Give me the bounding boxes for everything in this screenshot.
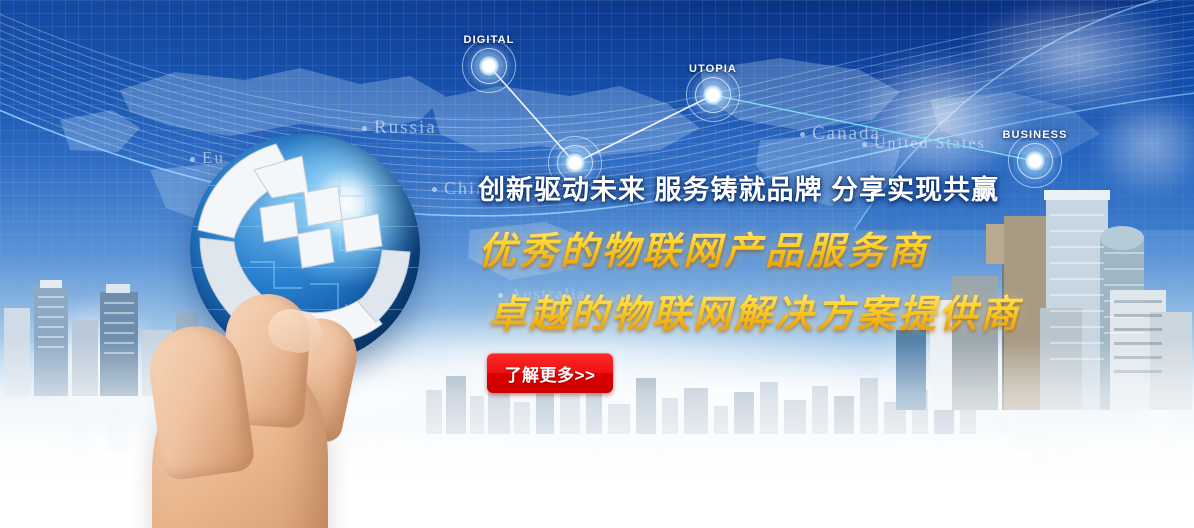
learn-more-button[interactable]: 了解更多>>: [487, 353, 613, 393]
node-core-glow: [478, 55, 500, 77]
banner-headline: 创新驱动未来 服务铸就品牌 分享实现共赢: [478, 168, 1078, 207]
hand-holding-globe: [118, 120, 448, 528]
network-node-label-utopia: UTOPIA: [689, 63, 737, 75]
network-node-label-digital: DIGITAL: [464, 34, 515, 46]
banner-tagline-1: 优秀的物联网产品服务商: [478, 220, 1078, 275]
hero-banner: Eu Russia China Canada United States Aus…: [0, 0, 1194, 528]
banner-tagline-2: 卓越的物联网解决方案提供商: [488, 283, 1078, 338]
network-node-utopia[interactable]: UTOPIA: [685, 67, 741, 123]
hand-graphic: [118, 270, 418, 528]
network-node-label-business: BUSINESS: [1002, 129, 1067, 141]
banner-copy-block: 创新驱动未来 服务铸就品牌 分享实现共赢 优秀的物联网产品服务商 卓越的物联网解…: [478, 168, 1078, 338]
network-node-digital[interactable]: DIGITAL: [461, 38, 517, 94]
node-core-glow: [702, 84, 724, 106]
